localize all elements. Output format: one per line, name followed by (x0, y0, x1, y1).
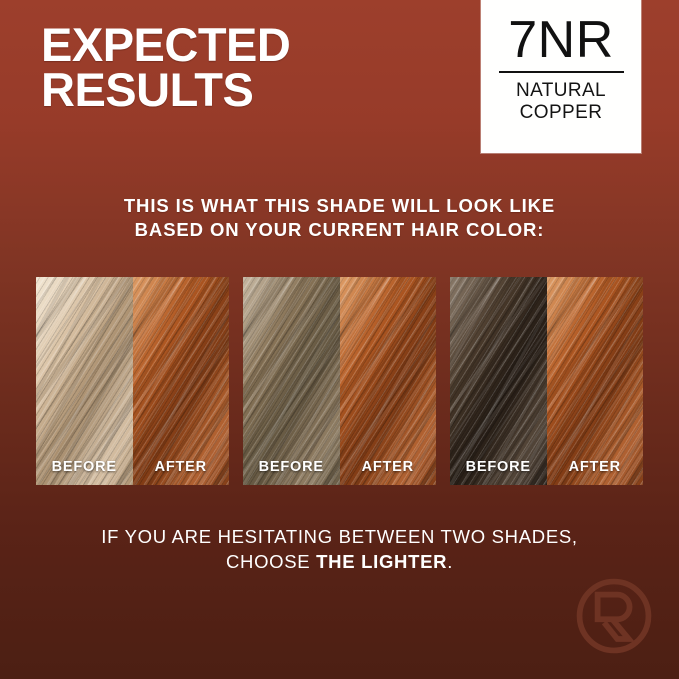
swatch-label-after: AFTER (340, 459, 437, 475)
badge-divider (499, 71, 624, 73)
hair-sheen (36, 277, 133, 485)
swatch-label-after: AFTER (133, 459, 230, 475)
swatch-label-before: BEFORE (450, 459, 547, 475)
hair-sheen (450, 277, 547, 485)
swatch-before: BEFORE (450, 277, 547, 485)
advice-prefix: CHOOSE (226, 551, 316, 572)
swatch-after: AFTER (133, 277, 230, 485)
hair-sheen (340, 277, 437, 485)
r-monogram-icon (573, 575, 655, 657)
advice-line-2: CHOOSE THE LIGHTER. (0, 549, 679, 574)
swatch-label-before: BEFORE (243, 459, 340, 475)
shade-code: 7NR (508, 14, 614, 67)
expected-results-poster: EXPECTED RESULTS 7NR NATURAL COPPER THIS… (0, 0, 679, 679)
swatch-pair: BEFORE AFTER (36, 277, 229, 485)
shade-badge: 7NR NATURAL COPPER (481, 0, 641, 153)
swatch-pair: BEFORE AFTER (450, 277, 643, 485)
swatch-after: AFTER (547, 277, 644, 485)
swatch-label-before: BEFORE (36, 459, 133, 475)
swatch-before: BEFORE (36, 277, 133, 485)
subheading: THIS IS WHAT THIS SHADE WILL LOOK LIKE B… (0, 194, 679, 243)
advice-text: IF YOU ARE HESITATING BETWEEN TWO SHADES… (0, 524, 679, 574)
swatch-before: BEFORE (243, 277, 340, 485)
advice-suffix: . (447, 551, 453, 572)
page-title: EXPECTED RESULTS (41, 22, 461, 112)
swatch-comparison-strip: BEFORE AFTER BEFORE AFTER BEFORE (36, 277, 643, 485)
swatch-pair: BEFORE AFTER (243, 277, 436, 485)
advice-emphasis: THE LIGHTER (316, 551, 447, 572)
hair-sheen (243, 277, 340, 485)
shade-name: NATURAL COPPER (516, 80, 606, 124)
swatch-label-after: AFTER (547, 459, 644, 475)
swatch-after: AFTER (340, 277, 437, 485)
advice-line-1: IF YOU ARE HESITATING BETWEEN TWO SHADES… (0, 524, 679, 549)
hair-sheen (133, 277, 230, 485)
hair-sheen (547, 277, 644, 485)
